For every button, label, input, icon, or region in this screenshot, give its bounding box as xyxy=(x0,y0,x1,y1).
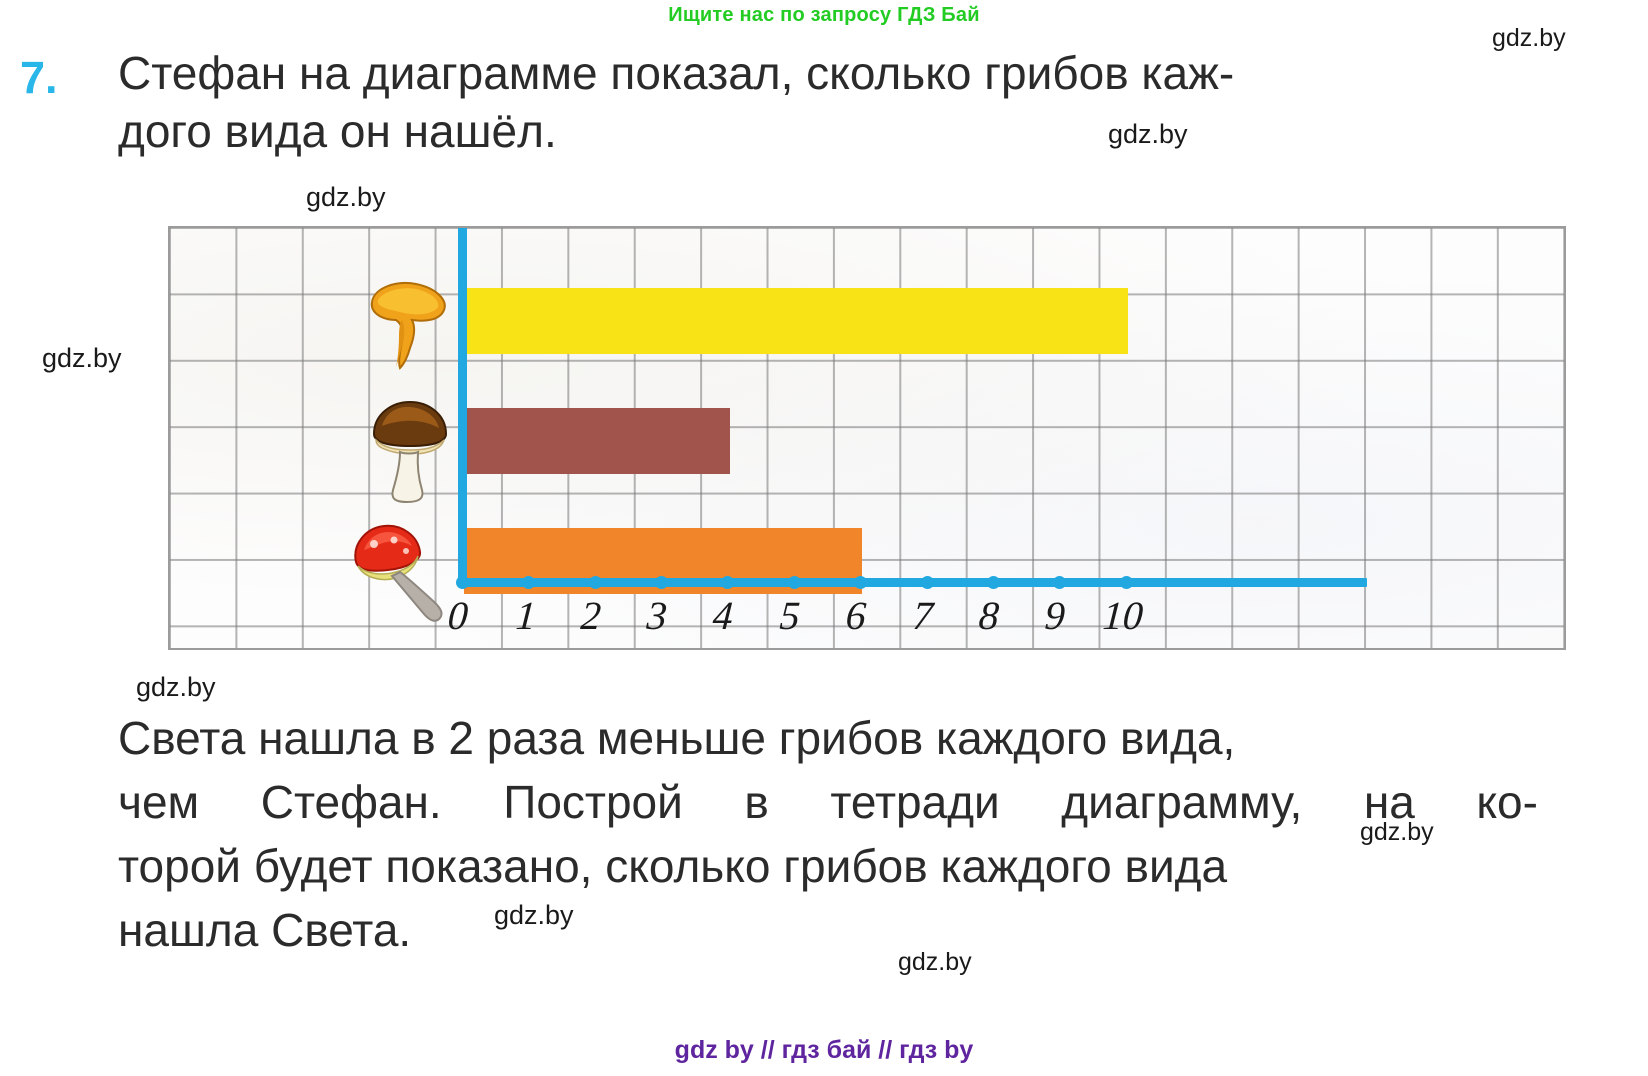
x-axis-label-0: 0 xyxy=(446,592,469,639)
x-tick-1 xyxy=(522,576,535,589)
task-question-text: Света нашла в 2 раза меньше грибов каждо… xyxy=(118,706,1538,962)
x-tick-6 xyxy=(854,576,867,589)
x-tick-10 xyxy=(1120,576,1133,589)
body-line-1: Света нашла в 2 раза меньше грибов каждо… xyxy=(118,706,1538,770)
fly-agaric-mushroom-icon xyxy=(348,518,458,628)
bar-chanterelle xyxy=(464,288,1128,354)
x-tick-0 xyxy=(456,576,469,589)
body-line-2-word-8: ко- xyxy=(1476,770,1538,834)
x-tick-8 xyxy=(987,576,1000,589)
body-line-2-word-4: в xyxy=(744,770,768,834)
x-axis-label-8: 8 xyxy=(977,592,1000,639)
site-footer: gdz by // гдз бай // гдз by xyxy=(0,1036,1648,1065)
body-line-2-word-3: Построй xyxy=(503,770,683,834)
task-statement-line-1: Стефан на диаграмме показал, сколько гри… xyxy=(118,44,1538,102)
x-axis-label-9: 9 xyxy=(1043,592,1066,639)
body-line-2-word-5: тетради xyxy=(830,770,999,834)
promo-banner: Ищите нас по запросу ГДЗ Бай xyxy=(0,4,1648,27)
x-axis-label-2: 2 xyxy=(579,592,602,639)
x-axis-label-1: 1 xyxy=(514,592,537,639)
body-line-2: чем Стефан. Построй в тетради диаграмму,… xyxy=(118,770,1538,834)
x-axis-label-10: 10 xyxy=(1101,592,1144,639)
body-line-2-word-1: чем xyxy=(118,770,199,834)
watermark-2: gdz.by xyxy=(306,182,386,213)
x-axis-label-6: 6 xyxy=(844,592,867,639)
bar-boletus xyxy=(464,408,730,474)
x-axis-label-7: 7 xyxy=(911,592,934,639)
watermark-4: gdz.by xyxy=(136,672,216,703)
task-number: 7. xyxy=(20,52,58,104)
body-line-2-word-6: диаграмму, xyxy=(1061,770,1302,834)
body-line-2-word-7: на xyxy=(1364,770,1415,834)
x-tick-9 xyxy=(1053,576,1066,589)
boletus-mushroom-icon xyxy=(362,396,458,508)
x-tick-3 xyxy=(655,576,668,589)
watermark-3: gdz.by xyxy=(42,343,122,374)
task-statement-line-2: дого вида он нашёл. xyxy=(118,102,1538,160)
mushroom-bar-chart: 0 1 2 3 4 5 6 7 8 9 10 xyxy=(168,226,1566,650)
y-axis-line xyxy=(458,228,467,584)
body-line-2-word-2: Стефан. xyxy=(261,770,442,834)
chanterelle-mushroom-icon xyxy=(356,276,456,371)
task-statement: Стефан на диаграмме показал, сколько гри… xyxy=(118,44,1538,160)
x-axis-label-3: 3 xyxy=(645,592,668,639)
x-axis-label-5: 5 xyxy=(778,592,801,639)
x-tick-2 xyxy=(589,576,602,589)
x-tick-7 xyxy=(921,576,934,589)
x-tick-4 xyxy=(721,576,734,589)
x-tick-5 xyxy=(788,576,801,589)
x-axis-label-4: 4 xyxy=(711,592,734,639)
body-line-4: нашла Света. xyxy=(118,898,1538,962)
body-line-3: торой будет показано, сколько грибов каж… xyxy=(118,834,1538,898)
